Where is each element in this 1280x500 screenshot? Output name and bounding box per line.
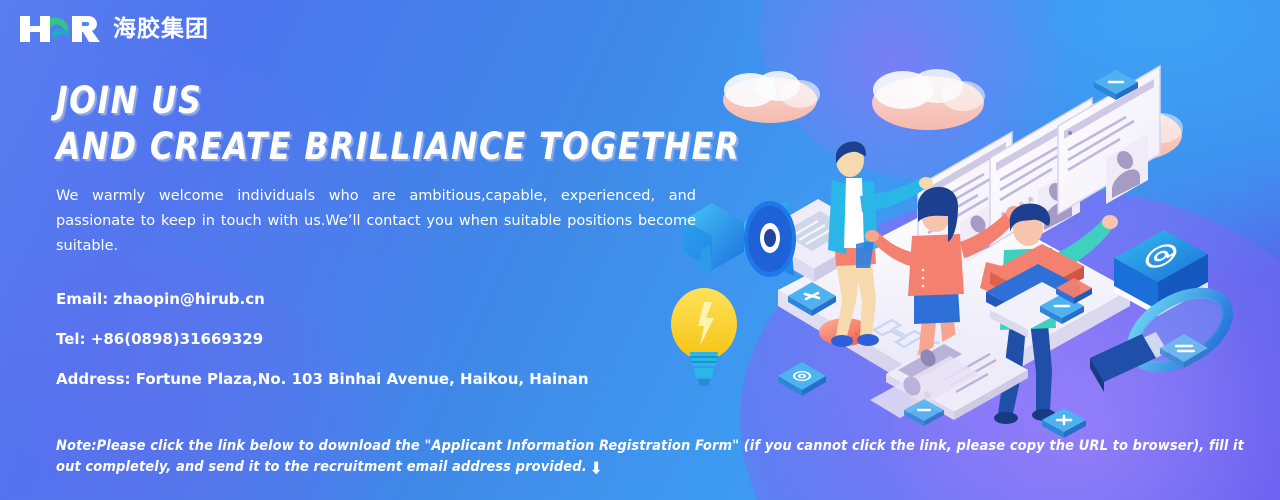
- cloud-icon: [723, 71, 820, 123]
- contact-address: Address: Fortune Plaza,No. 103 Binhai Av…: [56, 369, 706, 389]
- footer-note: Note:Please click the link below to down…: [56, 436, 1246, 480]
- hero-description: We warmly welcome individuals who are am…: [56, 184, 696, 259]
- recruitment-banner: 海胶集团 JOIN US AND CREATE BRILLIANCE TOGET…: [0, 0, 1280, 500]
- recruitment-illustration: [660, 0, 1280, 500]
- contact-info: Email: zhaopin@hirub.cn Tel: +86(0898)31…: [56, 289, 706, 389]
- brand-logo[interactable]: 海胶集团: [18, 14, 209, 44]
- footer-note-text: Note:Please click the link below to down…: [56, 438, 1244, 475]
- cloud-icon: [872, 69, 985, 130]
- hr-leaf-logo-icon: [18, 14, 104, 44]
- hero-copy: JOIN US AND CREATE BRILLIANCE TOGETHER W…: [56, 78, 706, 389]
- at-tile-icon: [778, 362, 826, 396]
- page-title-line-1: JOIN US: [56, 78, 674, 124]
- brand-logo-cn: 海胶集团: [113, 14, 209, 44]
- contact-tel: Tel: +86(0898)31669329: [56, 329, 706, 349]
- contact-email[interactable]: Email: zhaopin@hirub.cn: [56, 289, 706, 309]
- download-arrow-icon[interactable]: ⬇: [590, 459, 603, 480]
- page-title-line-2: AND CREATE BRILLIANCE TOGETHER: [56, 124, 674, 170]
